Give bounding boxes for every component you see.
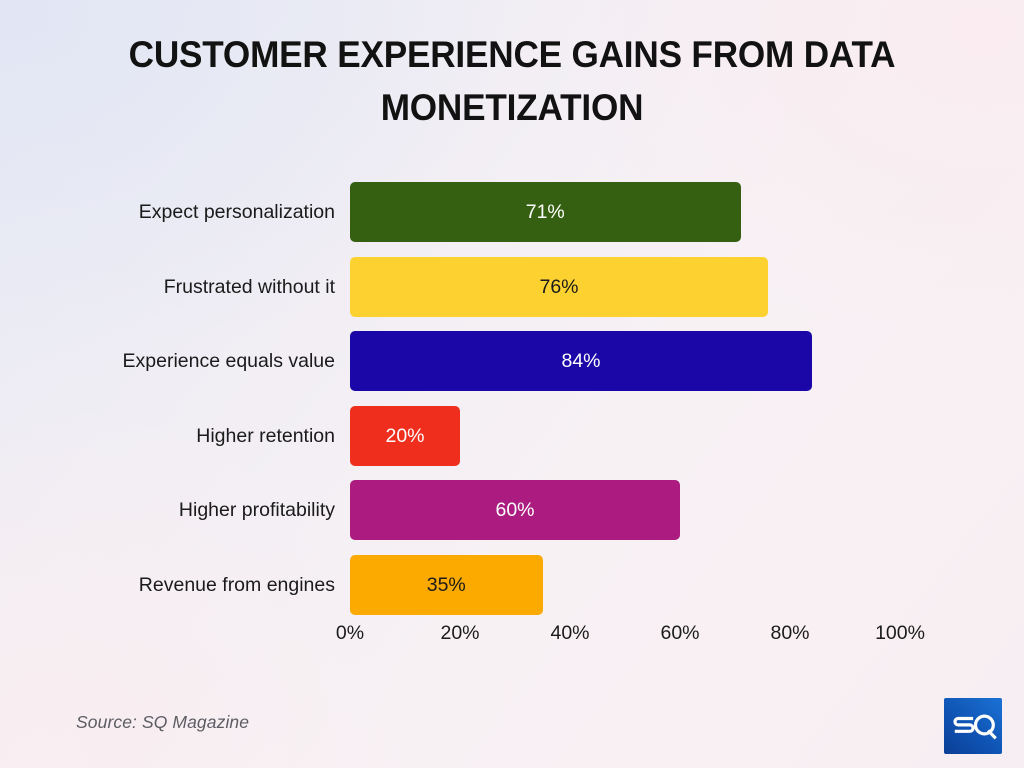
x-axis-tick-label: 100%: [840, 622, 960, 645]
category-label: Expect personalization: [60, 175, 335, 249]
bar[interactable]: 20%: [350, 406, 460, 466]
bar[interactable]: 60%: [350, 480, 680, 540]
chart-row: Higher retention20%: [0, 399, 1024, 473]
x-axis-tick-label: 60%: [620, 622, 740, 645]
bar-value-label: 35%: [350, 555, 543, 615]
bar[interactable]: 71%: [350, 182, 741, 242]
chart-row: Higher profitability60%: [0, 473, 1024, 547]
sq-magazine-logo: [944, 698, 1002, 754]
source-note: Source: SQ Magazine: [76, 712, 249, 733]
category-label: Revenue from engines: [60, 548, 335, 622]
category-label: Frustrated without it: [60, 250, 335, 324]
x-axis-tick-label: 40%: [510, 622, 630, 645]
category-label: Higher retention: [60, 399, 335, 473]
bar-value-label: 71%: [350, 182, 741, 242]
bar[interactable]: 84%: [350, 331, 812, 391]
chart-row: Revenue from engines35%: [0, 548, 1024, 622]
x-axis-tick-label: 20%: [400, 622, 520, 645]
category-label: Higher profitability: [60, 473, 335, 547]
bar-value-label: 84%: [350, 331, 812, 391]
x-axis-tick-label: 0%: [290, 622, 410, 645]
infographic-poster: CUSTOMER EXPERIENCE GAINS FROM DATA MONE…: [0, 0, 1024, 768]
bar[interactable]: 76%: [350, 257, 768, 317]
chart-row: Expect personalization71%: [0, 175, 1024, 249]
chart-row: Experience equals value84%: [0, 324, 1024, 398]
x-axis-tick-label: 80%: [730, 622, 850, 645]
bar-value-label: 20%: [350, 406, 460, 466]
category-label: Experience equals value: [60, 324, 335, 398]
bar[interactable]: 35%: [350, 555, 543, 615]
bar-value-label: 60%: [350, 480, 680, 540]
bar-value-label: 76%: [350, 257, 768, 317]
x-axis: 0%20%40%60%80%100%: [0, 622, 1024, 654]
chart-row: Frustrated without it76%: [0, 250, 1024, 324]
